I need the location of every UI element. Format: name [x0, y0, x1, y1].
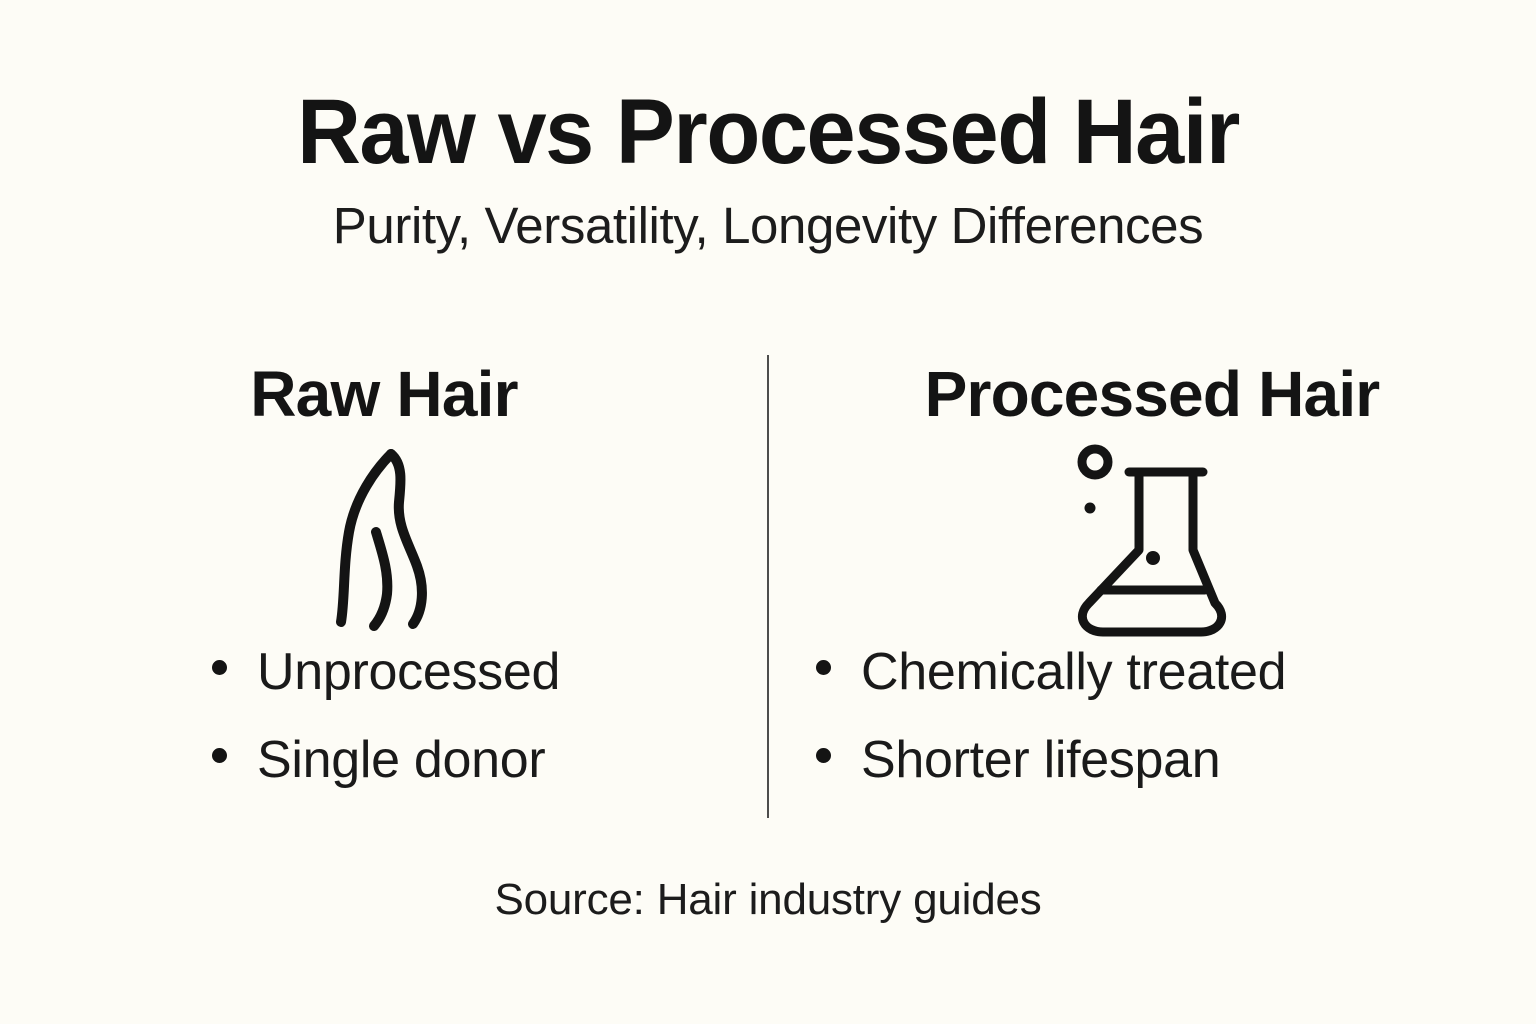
bullet-list-raw: Unprocessed Single donor	[0, 646, 768, 822]
bullet-dot-icon	[816, 660, 831, 675]
chemical-flask-icon	[768, 432, 1536, 647]
bullet-dot-icon	[816, 748, 831, 763]
list-item: Shorter lifespan	[768, 734, 1536, 786]
comparison-columns: Raw Hair Unprocessed Single donor	[0, 352, 1536, 822]
list-item: Chemically treated	[768, 646, 1536, 698]
column-raw-hair: Raw Hair Unprocessed Single donor	[0, 352, 768, 822]
hair-strand-icon	[0, 432, 768, 647]
bullet-text: Shorter lifespan	[861, 734, 1220, 786]
column-processed-hair: Processed Hair	[768, 352, 1536, 822]
page-title: Raw vs Processed Hair	[31, 86, 1506, 178]
bullet-text: Chemically treated	[861, 646, 1286, 698]
bullet-text: Single donor	[257, 734, 545, 786]
list-item: Unprocessed	[0, 646, 768, 698]
column-heading-raw: Raw Hair	[0, 352, 768, 426]
bullet-text: Unprocessed	[257, 646, 560, 698]
list-item: Single donor	[0, 734, 768, 786]
infographic-canvas: Raw vs Processed Hair Purity, Versatilit…	[0, 0, 1536, 1024]
bullet-list-processed: Chemically treated Shorter lifespan	[768, 646, 1536, 822]
page-subtitle: Purity, Versatility, Longevity Differenc…	[0, 200, 1536, 251]
header: Raw vs Processed Hair Purity, Versatilit…	[0, 86, 1536, 251]
bullet-dot-icon	[212, 748, 227, 763]
source-caption: Source: Hair industry guides	[0, 878, 1536, 922]
column-heading-processed: Processed Hair	[768, 352, 1536, 426]
bullet-dot-icon	[212, 660, 227, 675]
